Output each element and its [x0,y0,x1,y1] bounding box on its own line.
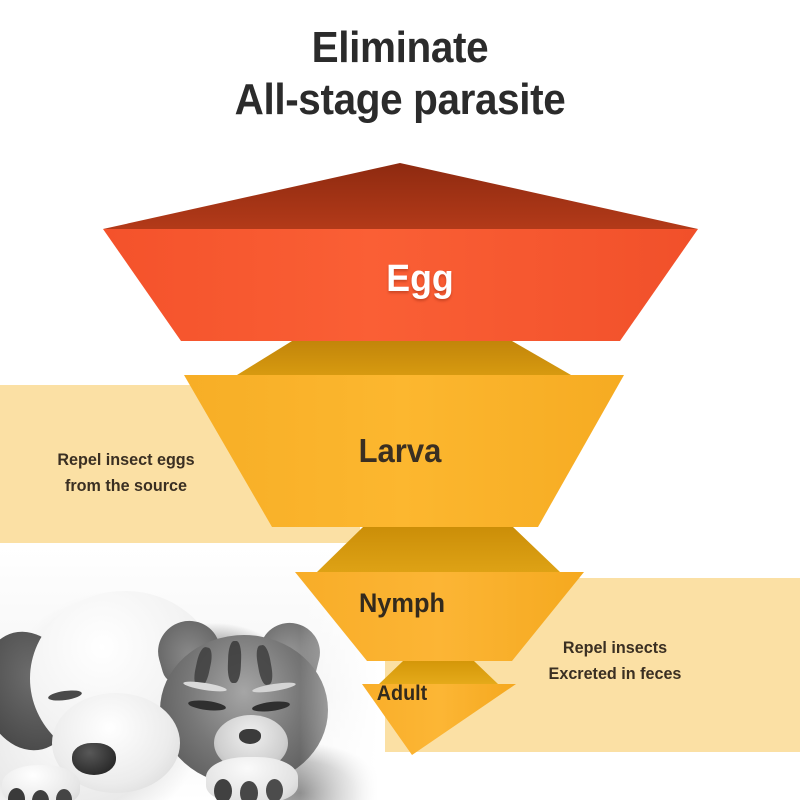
kitten-toe [266,779,283,800]
kitten-toe [214,779,232,800]
headline-line-1: Eliminate [32,22,768,74]
funnel-stage-egg [103,163,698,341]
funnel-label-adult: Adult [327,682,477,706]
infographic-canvas: Egg Larva Nymph Adult Repel insect eggs … [0,0,800,800]
kitten-toe [240,781,258,800]
photo-fade-right [300,543,385,800]
puppy-nose [72,743,116,775]
callout-text-left: Repel insect eggs from the source [16,447,236,498]
egg-top-face [103,163,698,229]
callout-text-right: Repel insects Excreted in feces [487,635,744,686]
headline-line-2: All-stage parasite [32,74,768,126]
funnel-label-egg: Egg [307,258,533,301]
funnel-label-nymph: Nymph [308,588,496,619]
headline: Eliminate All-stage parasite [0,22,800,126]
larva-top-face [237,341,571,375]
kitten-nose [239,729,261,744]
puppy-kitten-photo [0,543,385,800]
funnel-label-larva: Larva [297,432,504,470]
